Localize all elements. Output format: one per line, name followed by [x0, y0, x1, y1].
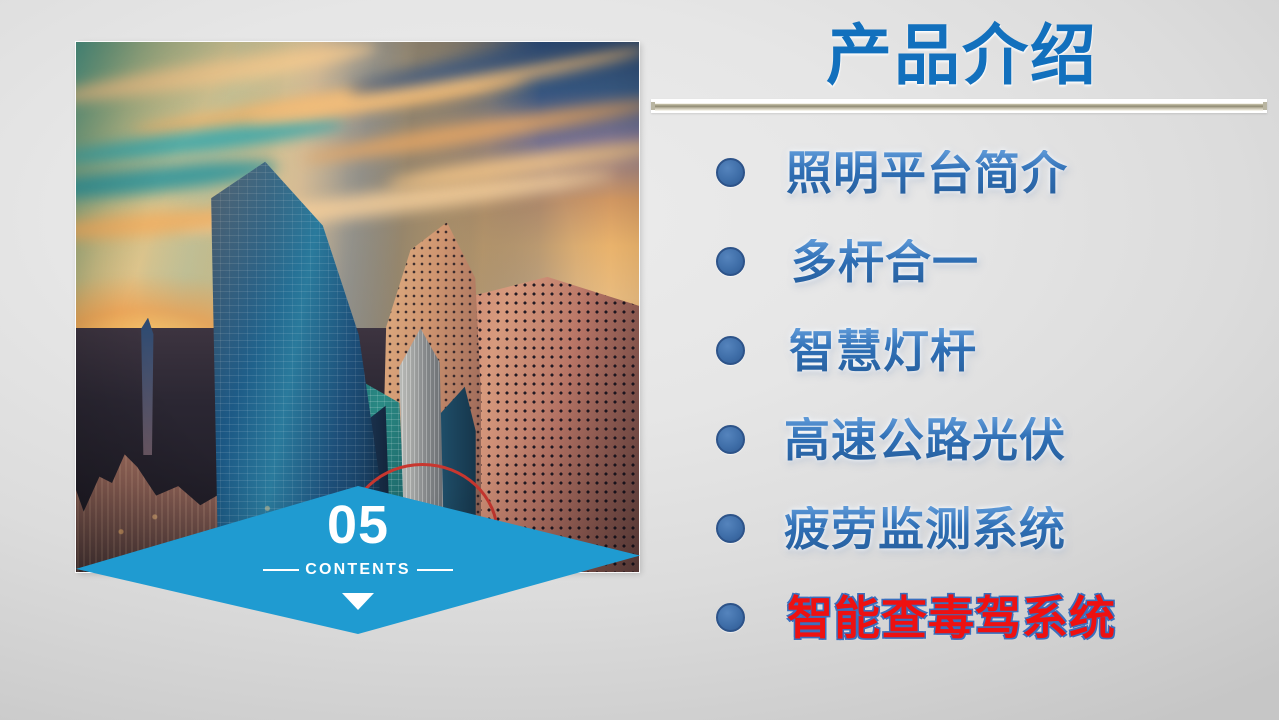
list-item-label: 智能查毒驾系统: [787, 595, 1116, 641]
bullet-icon: [716, 514, 745, 543]
list-item-label: 高速公路光伏: [784, 417, 1066, 463]
list-item[interactable]: 智慧灯杆: [645, 306, 1279, 395]
list-item[interactable]: 多杆合一: [645, 217, 1279, 306]
list-item[interactable]: 疲劳监测系统: [645, 484, 1279, 573]
list-item[interactable]: 高速公路光伏: [645, 395, 1279, 484]
contents-list: 照明平台简介 多杆合一 智慧灯杆 高速公路光伏 疲劳监测系统 智能查毒驾系统: [645, 128, 1279, 662]
right-panel: 产品介绍 照明平台简介 多杆合一 智慧灯杆 高速公路光伏 疲劳监测系统: [645, 0, 1279, 720]
list-item-label: 多杆合一: [791, 239, 979, 285]
bullet-icon: [716, 603, 745, 632]
list-item[interactable]: 智能查毒驾系统: [645, 573, 1279, 662]
slide-canvas: 05 CONTENTS 产品介绍 照明平台简介 多杆合一 智慧灯杆: [0, 0, 1279, 720]
title-divider: [651, 99, 1267, 113]
list-item[interactable]: 照明平台简介: [645, 128, 1279, 217]
bullet-icon: [716, 425, 745, 454]
bullet-icon: [716, 336, 745, 365]
list-item-label: 照明平台简介: [786, 150, 1068, 196]
list-item-label: 智慧灯杆: [789, 328, 977, 374]
bullet-icon: [716, 158, 745, 187]
bullet-icon: [716, 247, 745, 276]
page-title: 产品介绍: [645, 2, 1279, 98]
list-item-label: 疲劳监测系统: [784, 506, 1066, 552]
